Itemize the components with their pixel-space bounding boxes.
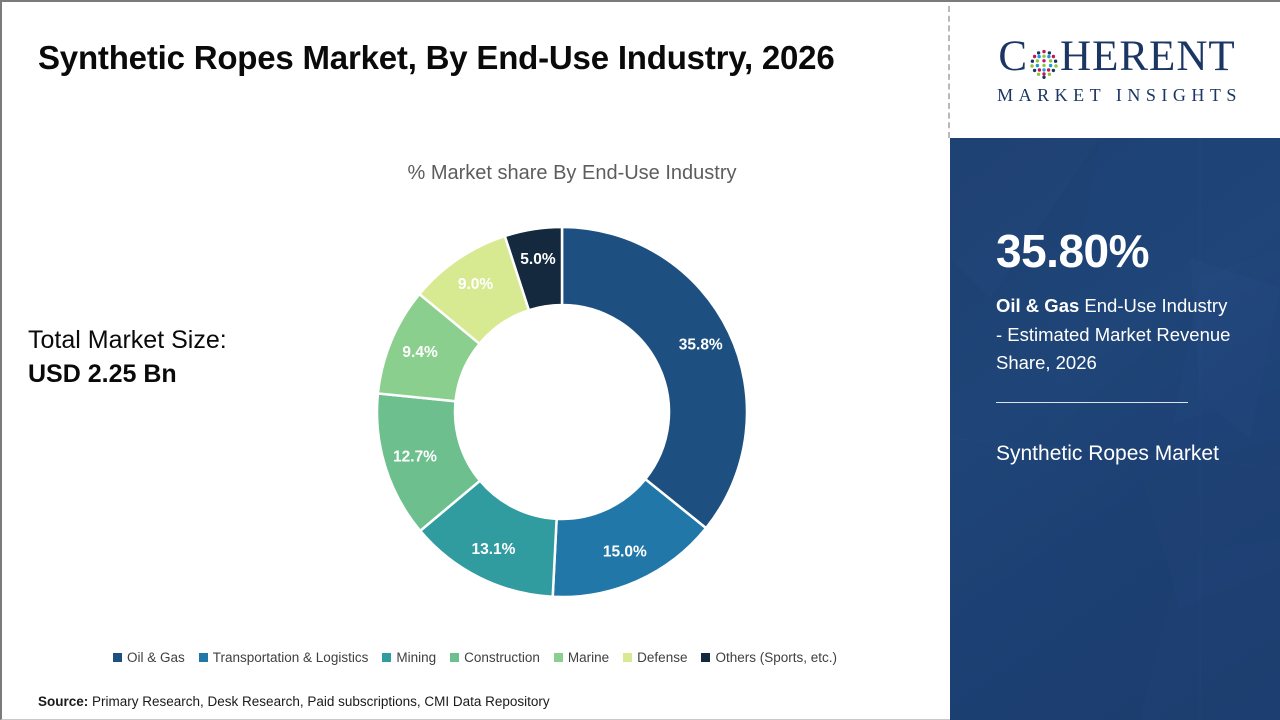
- legend-swatch-icon: [450, 653, 459, 662]
- source-label: Source:: [38, 694, 88, 709]
- panel-description: Oil & Gas End-Use Industry - Estimated M…: [996, 292, 1236, 378]
- donut-chart: 35.8%15.0%13.1%12.7%9.4%9.0%5.0%: [375, 225, 749, 599]
- legend-swatch-icon: [623, 653, 632, 662]
- panel-divider-rule: [996, 402, 1188, 403]
- legend-swatch-icon: [382, 653, 391, 662]
- source-line: Source: Primary Research, Desk Research,…: [38, 694, 550, 709]
- legend-label: Oil & Gas: [127, 650, 185, 665]
- donut-slice-label: 5.0%: [520, 251, 556, 268]
- donut-slice-label: 15.0%: [603, 543, 647, 560]
- infographic-page: Synthetic Ropes Market, By End-Use Indus…: [0, 0, 1280, 720]
- legend-item: Marine: [554, 650, 609, 665]
- legend-swatch-icon: [554, 653, 563, 662]
- legend-swatch-icon: [113, 653, 122, 662]
- left-content-pane: Synthetic Ropes Market, By End-Use Indus…: [2, 2, 948, 720]
- legend-item: Construction: [450, 650, 540, 665]
- panel-content: 35.80% Oil & Gas End-Use Industry - Esti…: [996, 228, 1236, 471]
- page-title: Synthetic Ropes Market, By End-Use Indus…: [38, 34, 878, 82]
- donut-slice-label: 9.0%: [458, 276, 494, 293]
- highlight-panel: 35.80% Oil & Gas End-Use Industry - Esti…: [950, 138, 1280, 720]
- donut-slice-label: 9.4%: [402, 344, 438, 361]
- donut-slice-label: 35.8%: [679, 337, 723, 354]
- donut-slice-label: 12.7%: [393, 448, 437, 465]
- panel-market-name: Synthetic Ropes Market: [996, 437, 1236, 471]
- globe-icon: [1029, 44, 1059, 74]
- chart-subtitle: % Market share By End-Use Industry: [302, 162, 842, 185]
- brand-logo: C: [952, 2, 1280, 138]
- donut-chart-svg: 35.8%15.0%13.1%12.7%9.4%9.0%5.0%: [375, 225, 749, 599]
- legend-item: Mining: [382, 650, 436, 665]
- legend-label: Transportation & Logistics: [213, 650, 369, 665]
- panel-percentage: 35.80%: [996, 228, 1236, 274]
- legend-label: Defense: [637, 650, 687, 665]
- source-text: Primary Research, Desk Research, Paid su…: [88, 694, 549, 709]
- legend-label: Construction: [464, 650, 540, 665]
- total-market-label: Total Market Size:: [28, 326, 227, 354]
- legend-item: Defense: [623, 650, 687, 665]
- donut-slice-label: 13.1%: [471, 541, 515, 558]
- total-market-value: USD 2.25 Bn: [28, 358, 328, 392]
- panel-description-bold: Oil & Gas: [996, 295, 1079, 316]
- vertical-dashed-divider: [948, 6, 950, 138]
- chart-legend: Oil & GasTransportation & LogisticsMinin…: [2, 650, 948, 665]
- legend-swatch-icon: [199, 653, 208, 662]
- legend-item: Others (Sports, etc.): [701, 650, 837, 665]
- donut-slices: [377, 227, 747, 597]
- logo-letters-herent: HERENT: [1060, 35, 1236, 78]
- logo-subtitle: MARKET INSIGHTS: [992, 85, 1242, 106]
- legend-item: Transportation & Logistics: [199, 650, 369, 665]
- logo-letter-c: C: [998, 35, 1028, 78]
- legend-label: Mining: [396, 650, 436, 665]
- legend-label: Others (Sports, etc.): [715, 650, 837, 665]
- legend-label: Marine: [568, 650, 609, 665]
- legend-item: Oil & Gas: [113, 650, 185, 665]
- donut-slice: [562, 227, 747, 528]
- total-market-size-block: Total Market Size: USD 2.25 Bn: [28, 324, 328, 392]
- legend-swatch-icon: [701, 653, 710, 662]
- logo-wordmark: C: [998, 35, 1235, 78]
